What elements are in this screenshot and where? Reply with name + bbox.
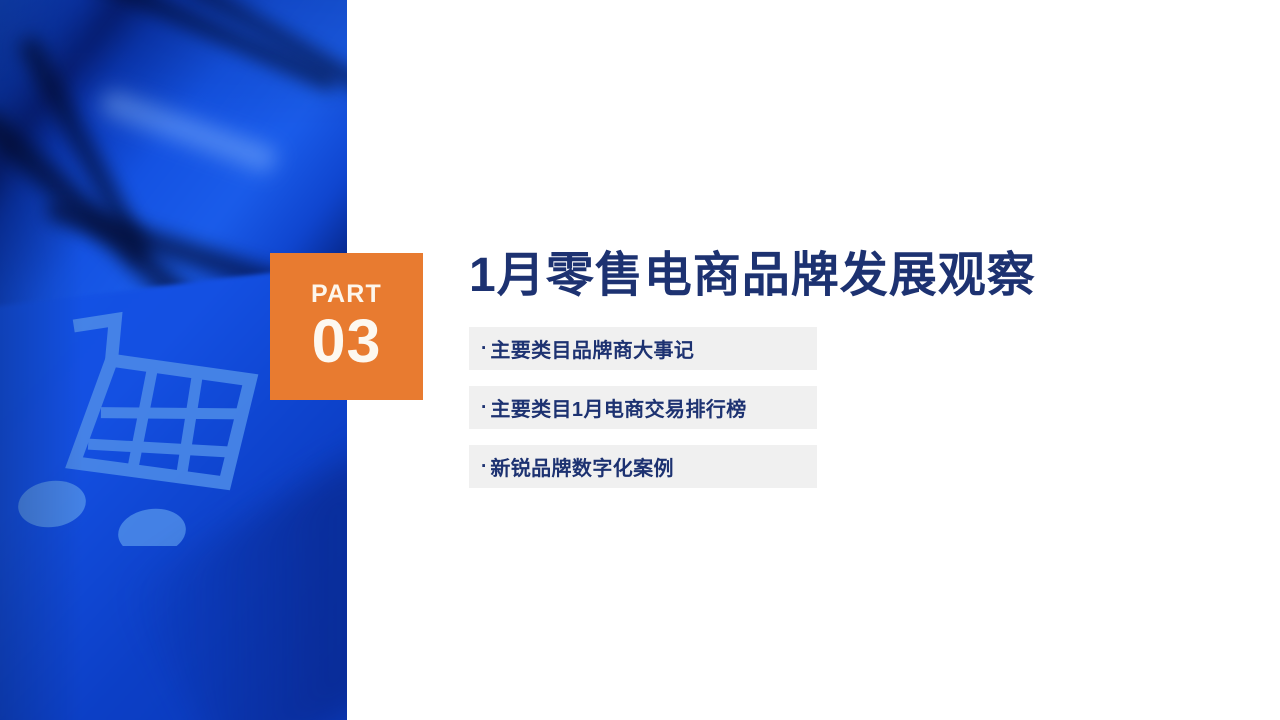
shopping-cart-icon xyxy=(6,296,266,546)
list-item-label: 主要类目品牌商大事记 xyxy=(490,334,694,363)
slide-content: 1月零售电商品牌发展观察 · 主要类目品牌商大事记 · 主要类目1月电商交易排行… xyxy=(469,248,1229,504)
list-item[interactable]: · 主要类目品牌商大事记 xyxy=(469,327,817,370)
cart-wheel xyxy=(115,504,189,546)
part-number: 03 xyxy=(312,311,382,372)
list-item[interactable]: · 主要类目1月电商交易排行榜 xyxy=(469,386,817,429)
list-item-label: 主要类目1月电商交易排行榜 xyxy=(490,393,746,422)
part-label: PART xyxy=(311,282,382,307)
bullet-dot-icon: · xyxy=(481,339,487,358)
part-number-badge: PART 03 xyxy=(270,253,423,400)
presentation-slide: PART 03 1月零售电商品牌发展观察 · 主要类目品牌商大事记 · 主要类目… xyxy=(0,0,1280,720)
agenda-list: · 主要类目品牌商大事记 · 主要类目1月电商交易排行榜 · 新锐品牌数字化案例 xyxy=(469,327,1229,488)
cart-wheel xyxy=(15,476,89,531)
list-item[interactable]: · 新锐品牌数字化案例 xyxy=(469,445,817,488)
bullet-dot-icon: · xyxy=(481,398,487,417)
page-title: 1月零售电商品牌发展观察 xyxy=(469,248,1229,305)
list-item-label: 新锐品牌数字化案例 xyxy=(490,452,674,481)
bullet-dot-icon: · xyxy=(481,457,487,476)
